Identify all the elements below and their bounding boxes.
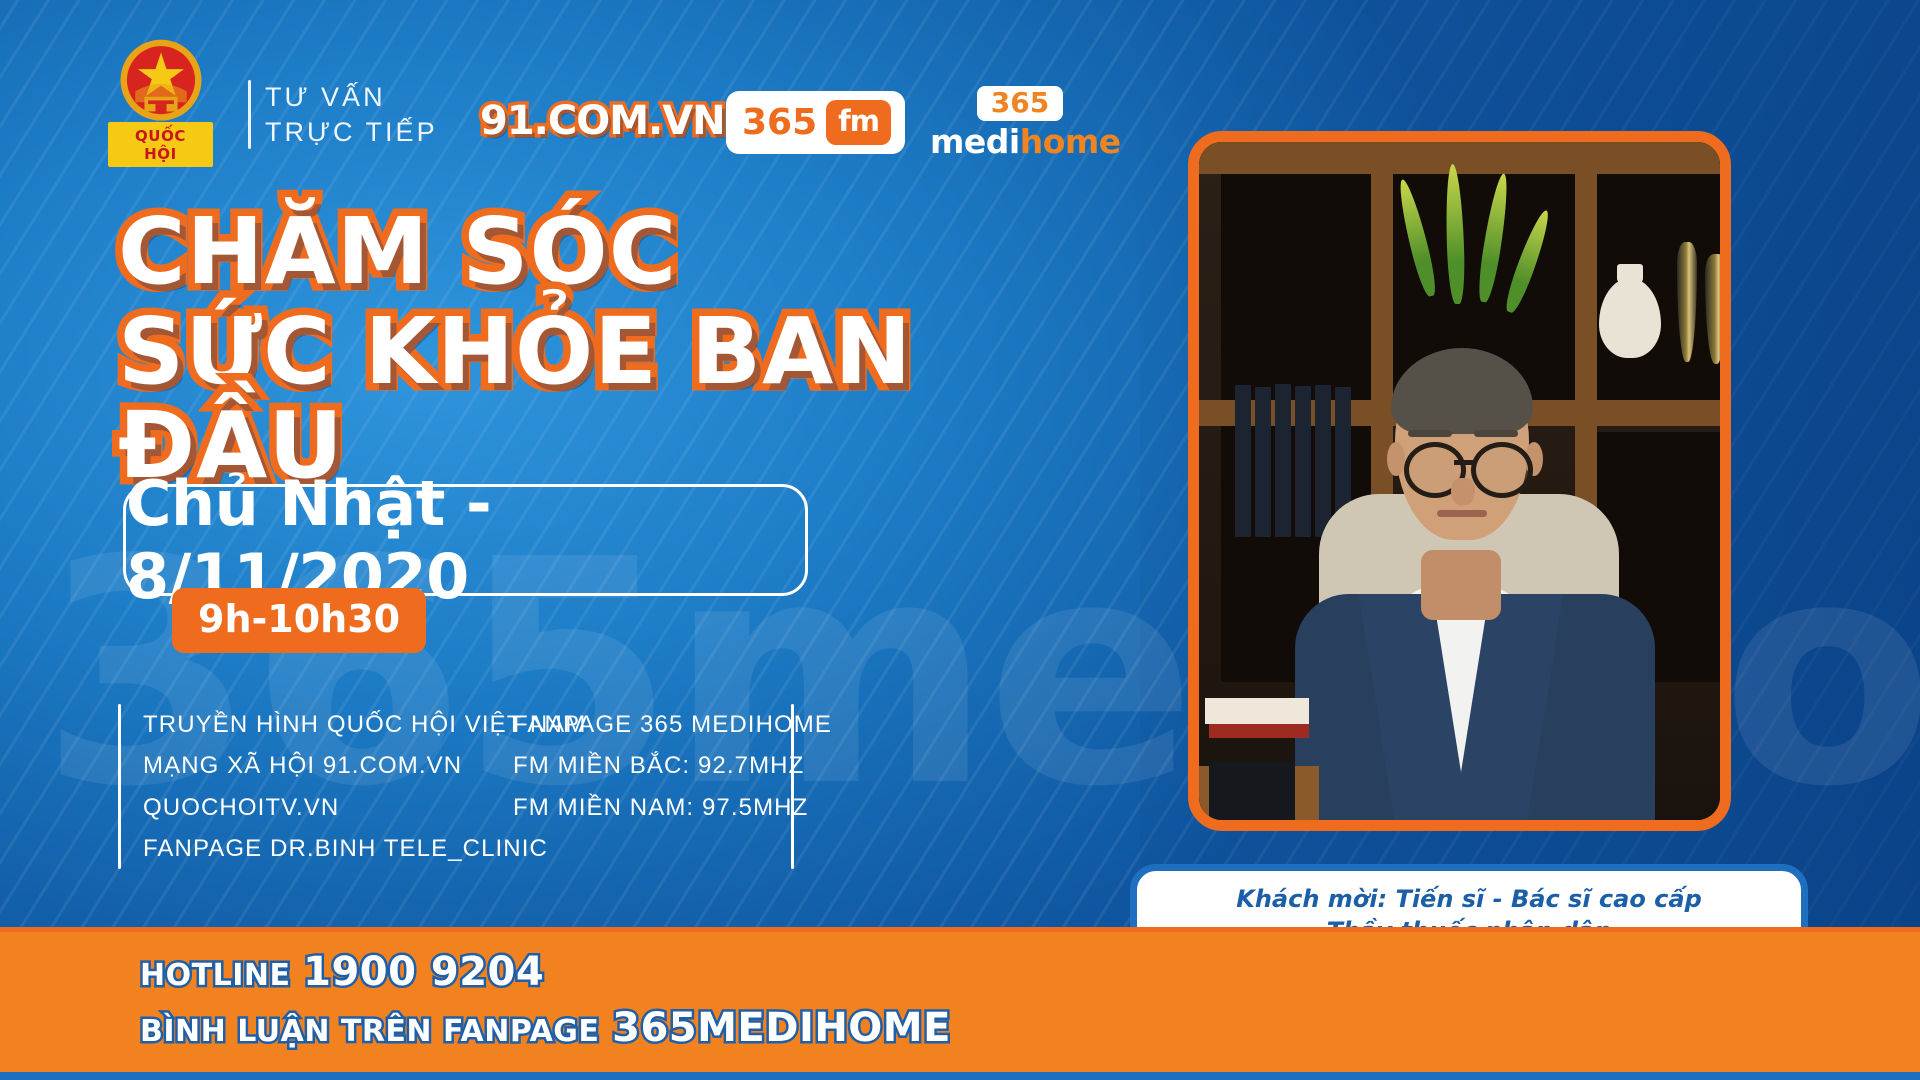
contact-column-2: FANPAGE 365 MEDIHOME FM MIỀN BẮC: 92.7MH… (513, 704, 783, 869)
footer-bar: HOTLINE 1900 9204 BÌNH LUẬN TRÊN FANPAGE… (0, 927, 1920, 1080)
contact-info-block: TRUYỀN HÌNH QUỐC HỘI VIỆT NAM MẠNG XÃ HỘ… (118, 704, 794, 869)
brass-vase (1705, 254, 1727, 364)
page-title-line2: SỨC KHỎE BAN ĐẦU (118, 305, 1118, 493)
book (1255, 387, 1271, 537)
logo-medihome-word-home: home (1020, 122, 1121, 161)
quoc-hoi-badge: QUỐC HỘI (108, 122, 213, 167)
header-logo-row: QUỐC HỘI TƯ VẤN TRỰC TIẾP 91.COM.VN 365 … (0, 36, 1100, 146)
contact-columns: TRUYỀN HÌNH QUỐC HỘI VIỆT NAM MẠNG XÃ HỘ… (143, 704, 783, 869)
program-label: TƯ VẤN TRỰC TIẾP (248, 80, 438, 149)
eyeglasses-bridge (1454, 460, 1474, 465)
logo-365-medihome: 365 medihome (930, 86, 1110, 158)
eyeglasses-lens-right (1471, 442, 1533, 498)
footer-hotline-label: HOTLINE (140, 958, 290, 993)
guest-role-line1: Khách mời: Tiến sĩ - Bác sĩ cao cấp (1236, 884, 1702, 914)
footer-comment-label: BÌNH LUẬN TRÊN FANPAGE (140, 1014, 599, 1049)
broadcast-date-box: Chủ Nhật - 8/11/2020 (123, 484, 808, 596)
national-emblem-block: QUỐC HỘI (108, 36, 213, 167)
nose (1451, 478, 1475, 506)
laptop (1209, 762, 1295, 831)
contact-column-1: TRUYỀN HÌNH QUỐC HỘI VIỆT NAM MẠNG XÃ HỘ… (143, 704, 513, 869)
mouth (1437, 510, 1487, 517)
logo-365fm-number: 365 (742, 105, 817, 141)
book (1235, 385, 1251, 537)
footer-bottom-stripe (0, 1072, 1920, 1080)
neck (1421, 550, 1501, 620)
guest-portrait-photo (1188, 131, 1731, 831)
contact-item: FM MIỀN BẮC: 92.7MHZ (513, 745, 783, 786)
paper-stack (1205, 698, 1309, 724)
red-book (1209, 724, 1309, 738)
vietnam-national-emblem-icon (115, 36, 207, 128)
shelf-cell (1221, 172, 1373, 402)
contact-item: FANPAGE DR.BINH TELE_CLINIC (143, 828, 513, 869)
shelf-board (1199, 142, 1731, 174)
logo-365fm: 365 fm (726, 91, 905, 154)
eyebrow-left (1408, 430, 1452, 437)
page-title: CHĂM SÓC SỨC KHỎE BAN ĐẦU (118, 205, 1118, 492)
eyebrow-right (1474, 430, 1518, 437)
logo-91comvn: 91.COM.VN (480, 98, 725, 144)
book (1315, 385, 1331, 537)
footer-fanpage-name: 365MEDIHOME (612, 1005, 951, 1051)
broadcast-time-badge: 9h-10h30 (172, 588, 426, 653)
program-label-line1: TƯ VẤN (265, 80, 438, 115)
portrait-scene (1199, 142, 1720, 820)
contact-right-rule (791, 704, 794, 869)
logo-medihome-word-medi: medi (930, 122, 1020, 161)
contact-item: TRUYỀN HÌNH QUỐC HỘI VIỆT NAM (143, 704, 513, 745)
logo-medihome-word: medihome (930, 125, 1110, 158)
contact-item: FANPAGE 365 MEDIHOME (513, 704, 783, 745)
program-label-line2: TRỰC TIẾP (265, 115, 438, 150)
book (1275, 384, 1291, 537)
ear-left (1387, 442, 1405, 476)
contact-left-rule (118, 704, 121, 869)
program-label-lines: TƯ VẤN TRỰC TIẾP (265, 80, 438, 149)
contact-item: MẠNG XÃ HỘI 91.COM.VN (143, 745, 513, 786)
page-title-line1: CHĂM SÓC (118, 205, 1118, 299)
footer-hotline-line: HOTLINE 1900 9204 (140, 949, 544, 995)
book (1295, 386, 1311, 537)
contact-item: FM MIỀN NAM: 97.5MHZ (513, 787, 783, 828)
logo-medihome-365-box: 365 (977, 86, 1063, 121)
logo-365fm-chip: fm (826, 100, 891, 145)
contact-item: QUOCHOITV.VN (143, 787, 513, 828)
poster-root: 365medihome QUỐC HỘI TƯ VẤN TRỰ (0, 0, 1920, 1080)
program-label-divider (248, 80, 251, 149)
footer-hotline-number: 1900 9204 (303, 949, 544, 995)
footer-comment-line: BÌNH LUẬN TRÊN FANPAGE 365MEDIHOME (140, 1005, 951, 1051)
footer-top-stripe (0, 927, 1920, 932)
